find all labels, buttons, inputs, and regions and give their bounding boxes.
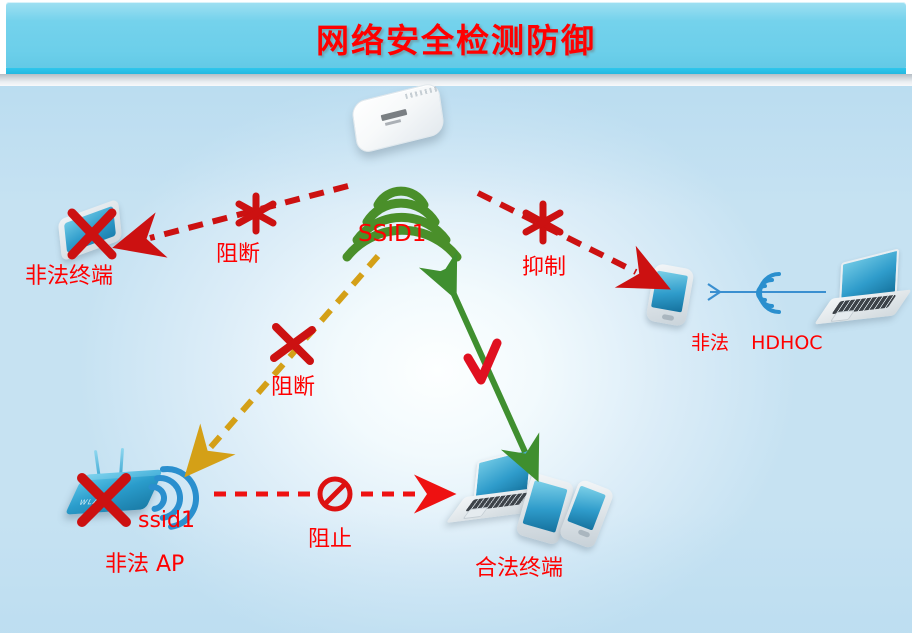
block-ap-label: 阻断: [271, 369, 315, 401]
illegal-hdhoc-label: 非法 HDHOC: [691, 328, 823, 355]
suppress-label: 抑制: [522, 249, 566, 281]
devices-group-icon[interactable]: [455, 455, 635, 555]
illegal-ap-label: 非法 AP: [105, 546, 184, 578]
wireless-access-point-icon[interactable]: [345, 88, 455, 148]
diagram-stage: 网络安全检测防御 WLAN: [0, 0, 912, 633]
illegal-ap-ssid-label: ssid1: [138, 508, 195, 533]
illegal-terminal-label: 非法终端: [25, 258, 113, 290]
phone-screen: [651, 271, 688, 313]
illegal-hdhoc-cn: 非法: [691, 332, 729, 354]
prevent-label: 阻止: [308, 521, 352, 553]
illegal-hdhoc-en: HDHOC: [751, 332, 822, 354]
legit-terminal-label: 合法终端: [475, 550, 563, 582]
smartphone-icon[interactable]: [644, 262, 704, 330]
laptop-icon[interactable]: [818, 256, 908, 332]
illegal-terminal-tablet-icon[interactable]: [54, 206, 130, 258]
block-left-label: 阻断: [216, 236, 260, 268]
page-title: 网络安全检测防御: [0, 14, 912, 62]
ssid1-label: SSID1: [358, 221, 426, 247]
